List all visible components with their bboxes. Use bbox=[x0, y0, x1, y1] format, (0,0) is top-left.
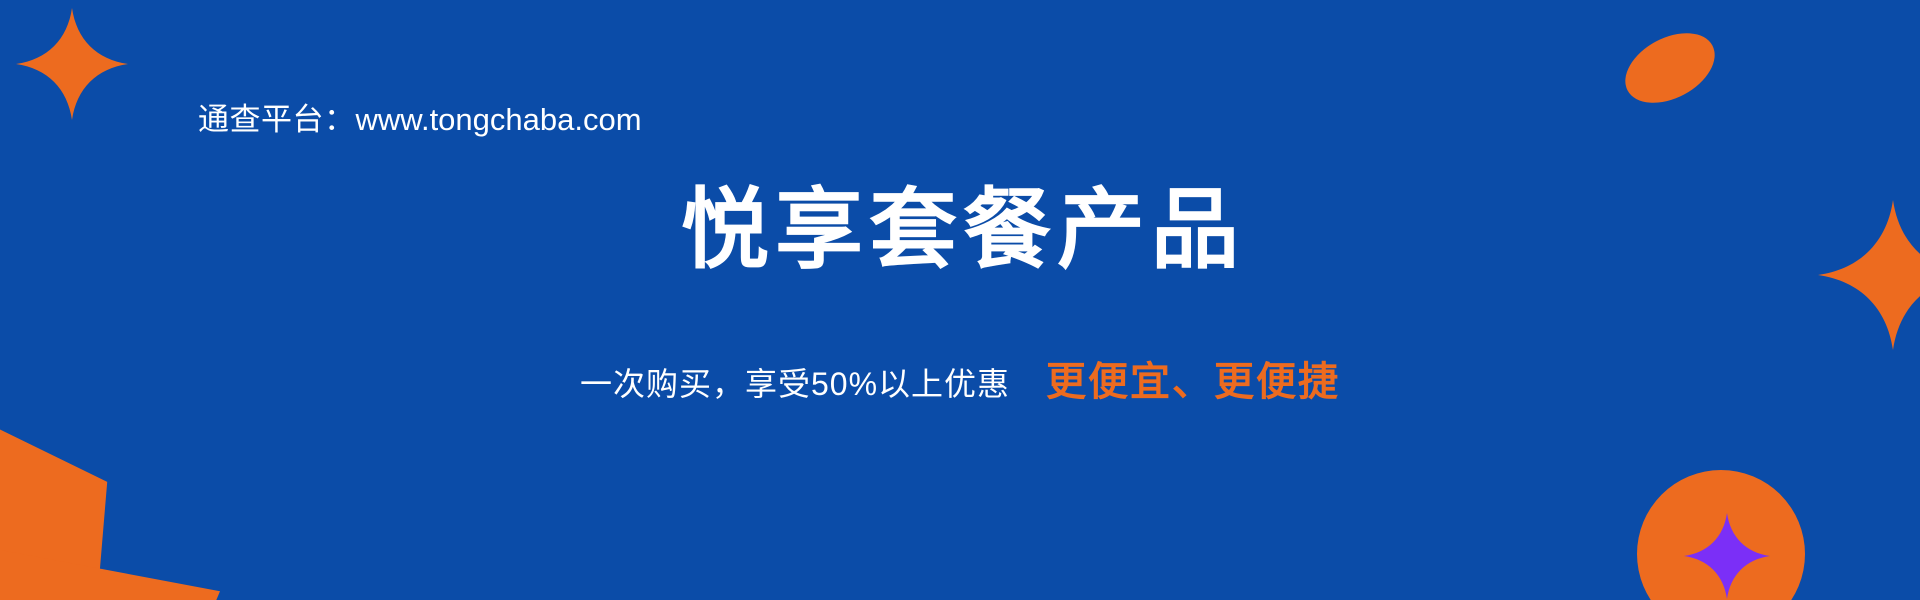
promo-banner: 通查平台：www.tongchaba.com 悦享套餐产品 一次购买，享受50%… bbox=[0, 0, 1920, 600]
page-title: 悦享套餐产品 bbox=[0, 186, 1920, 274]
subtitle-row: 一次购买，享受50%以上优惠 更便宜、更便捷 bbox=[0, 362, 1920, 402]
subtitle-accent-text: 更便宜、更便捷 bbox=[1046, 362, 1340, 402]
platform-label: 通查平台： bbox=[198, 102, 356, 137]
platform-line: 通查平台：www.tongchaba.com bbox=[198, 104, 642, 135]
banner-content: 通查平台：www.tongchaba.com 悦享套餐产品 一次购买，享受50%… bbox=[0, 0, 1920, 600]
platform-url: www.tongchaba.com bbox=[356, 102, 642, 137]
subtitle-plain-text: 一次购买，享受50%以上优惠 bbox=[580, 368, 1010, 400]
